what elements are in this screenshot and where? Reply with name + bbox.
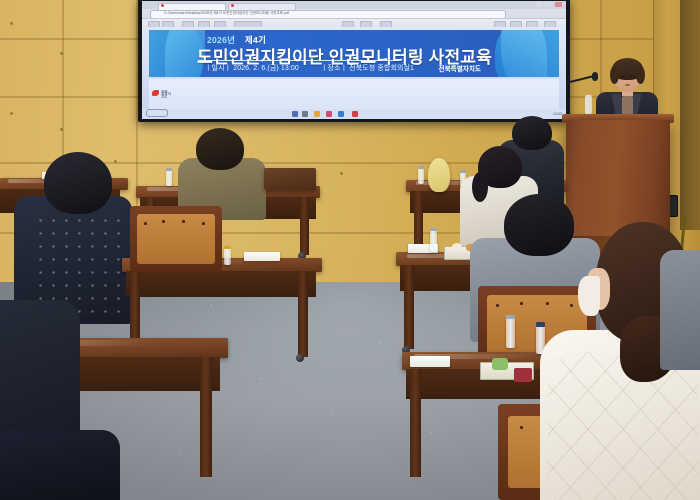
water-bottle-7 xyxy=(430,230,437,252)
handout-mid-left-2 xyxy=(244,252,280,261)
slide-footer-logo: 전북 특별자치도 xyxy=(152,90,174,97)
windows-taskbar: 13:02 xyxy=(142,109,566,119)
snack-item-3 xyxy=(492,358,508,370)
water-bottle-podium xyxy=(585,95,592,115)
browser-url-text: C:/Users/user/Desktop/2026년 제4기 도민인권지킴이단… xyxy=(164,10,494,15)
quilted-jacket-pattern xyxy=(548,352,698,500)
water-bottle-6 xyxy=(224,248,231,265)
notebook-red xyxy=(514,368,532,382)
taskbar-icon-explorer[interactable] xyxy=(292,111,298,117)
taskbar-search-box[interactable] xyxy=(146,109,168,117)
slide-banner: 2026년 제4기 도민인권지킴이단 인권모니터링 사전교육 ㅣ일시ㅣ 2026… xyxy=(149,30,559,77)
logo-line-2: 특별자치도 xyxy=(161,93,174,98)
slide-title-underline xyxy=(198,60,394,61)
slide-organizer: 전북특별자치도 xyxy=(439,63,481,73)
pdf-slide: 2026년 제4기 도민인권지킴이단 인권모니터링 사전교육 ㅣ일시ㅣ 2026… xyxy=(142,27,566,119)
face-mask xyxy=(578,276,600,316)
wave-graphic-right-2 xyxy=(501,30,547,77)
podium: JEONBUK STATE 전북 특별자치도 xyxy=(566,120,670,240)
taskbar-icon-folder[interactable] xyxy=(314,111,320,117)
slide-body: 전북 특별자치도 xyxy=(149,79,559,109)
taskbar-icon-settings[interactable] xyxy=(302,111,308,117)
projection-screen: C:/Users/user/Desktop/2026년 제4기 도민인권지킴이단… xyxy=(142,1,566,119)
handout-front-right xyxy=(410,356,450,367)
snack-item xyxy=(452,243,462,251)
wall-pillar-dark-edge xyxy=(680,0,700,230)
conference-room-photo: C:/Users/user/Desktop/2026년 제4기 도민인권지킴이단… xyxy=(0,0,700,500)
slide-meta: ㅣ일시ㅣ 2026. 2. 6.(금) 13:00 ㅣ장소ㅣ 전북도청 종합회의… xyxy=(205,63,414,73)
water-bottle-2 xyxy=(166,170,172,186)
slide-place: ㅣ장소ㅣ 전북도청 종합회의실1 xyxy=(321,65,414,72)
chair-mid-left[interactable] xyxy=(130,206,222,272)
browser-chrome: C:/Users/user/Desktop/2026년 제4기 도민인권지킴이단… xyxy=(142,1,566,27)
decorative-vase xyxy=(428,158,450,192)
taskbar-icon-pdf[interactable] xyxy=(352,111,358,117)
window-minimize-button[interactable] xyxy=(535,2,542,7)
taskbar-icon-media[interactable] xyxy=(326,111,332,117)
window-close-button[interactable] xyxy=(555,2,562,7)
window-maximize-button[interactable] xyxy=(545,2,552,7)
water-bottle-8 xyxy=(506,318,515,348)
handbag-on-desk xyxy=(264,168,316,190)
taskbar-icon-browser[interactable] xyxy=(338,111,344,117)
projection-screen-bezel: C:/Users/user/Desktop/2026년 제4기 도민인권지킴이단… xyxy=(138,0,570,122)
taskbar-clock: 13:02 xyxy=(553,112,562,116)
slide-date: ㅣ일시ㅣ 2026. 2. 6.(금) 13:00 xyxy=(205,65,299,72)
logo-mark-icon xyxy=(152,90,159,96)
water-bottle-3 xyxy=(418,168,424,184)
